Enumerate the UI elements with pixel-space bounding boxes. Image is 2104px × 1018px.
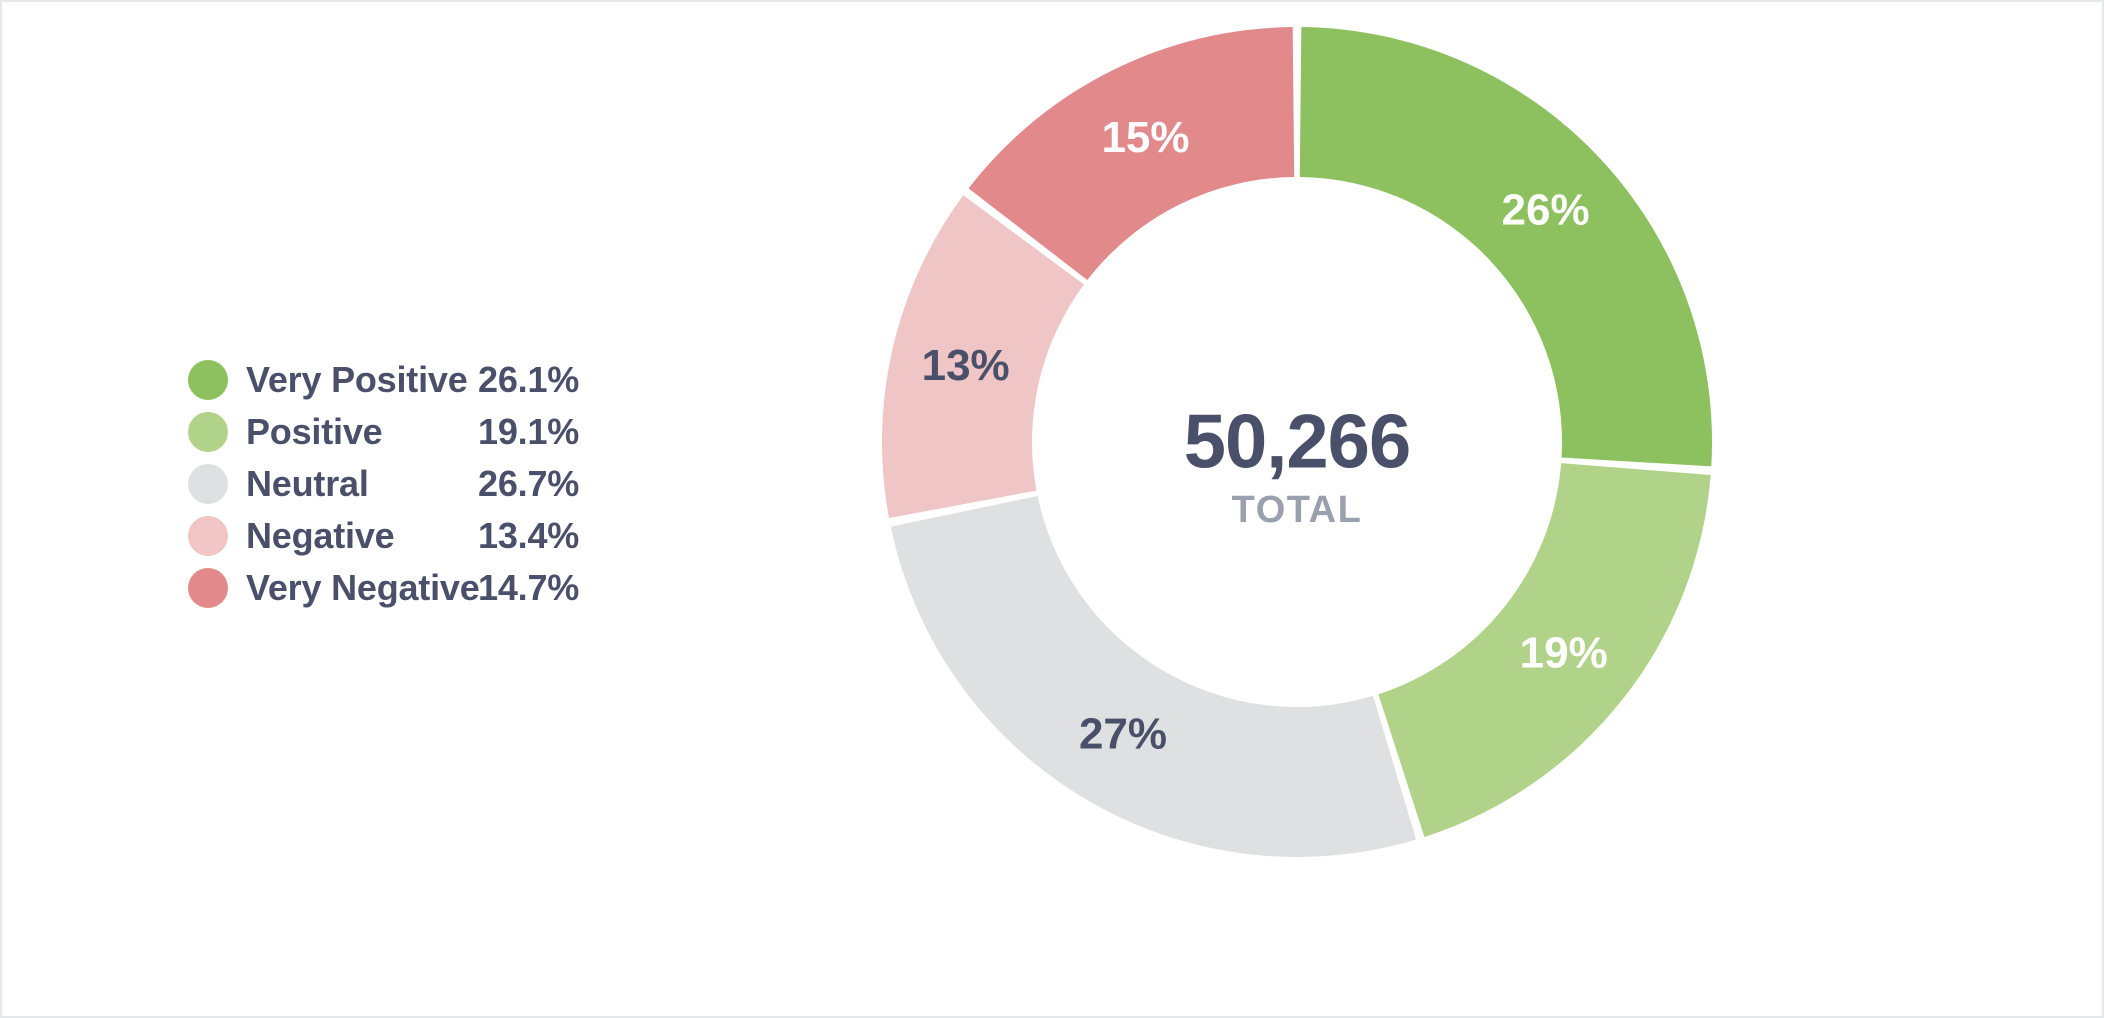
legend-swatch-negative xyxy=(188,516,228,556)
chart-legend: Very Positive 26.1% Positive 19.1% Neutr… xyxy=(188,354,708,614)
donut-chart: 26%19%27%13%15% 50,266 TOTAL xyxy=(857,20,1737,910)
donut-slice-label: 13% xyxy=(922,341,1010,390)
donut-chart-svg: 26%19%27%13%15% 50,266 TOTAL xyxy=(857,20,1737,910)
donut-slice-label: 19% xyxy=(1520,628,1608,677)
legend-value-very-negative: 14.7% xyxy=(478,567,579,609)
donut-chart-card: Very Positive 26.1% Positive 19.1% Neutr… xyxy=(0,0,2104,1018)
legend-swatch-positive xyxy=(188,412,228,452)
donut-slice[interactable] xyxy=(891,496,1416,857)
legend-label-very-positive: Very Positive xyxy=(246,359,468,401)
legend-label-negative: Negative xyxy=(246,515,394,557)
donut-slice-label: 26% xyxy=(1502,186,1590,235)
legend-swatch-very-positive xyxy=(188,360,228,400)
legend-item-very-negative[interactable]: Very Negative 14.7% xyxy=(188,562,708,614)
legend-value-neutral: 26.7% xyxy=(478,463,579,505)
donut-slice-label: 15% xyxy=(1101,113,1189,162)
legend-item-very-positive[interactable]: Very Positive 26.1% xyxy=(188,354,708,406)
legend-item-neutral[interactable]: Neutral 26.7% xyxy=(188,458,708,510)
legend-label-very-negative: Very Negative xyxy=(246,567,480,609)
legend-item-negative[interactable]: Negative 13.4% xyxy=(188,510,708,562)
legend-swatch-neutral xyxy=(188,464,228,504)
legend-swatch-very-negative xyxy=(188,568,228,608)
legend-value-very-positive: 26.1% xyxy=(478,359,579,401)
donut-slice-label: 27% xyxy=(1079,710,1167,759)
donut-center-total: 50,266 xyxy=(1184,400,1410,485)
legend-label-positive: Positive xyxy=(246,411,382,453)
legend-label-neutral: Neutral xyxy=(246,463,369,505)
legend-value-positive: 19.1% xyxy=(478,411,579,453)
legend-item-positive[interactable]: Positive 19.1% xyxy=(188,406,708,458)
legend-value-negative: 13.4% xyxy=(478,515,579,557)
donut-center-caption: TOTAL xyxy=(1232,489,1363,531)
